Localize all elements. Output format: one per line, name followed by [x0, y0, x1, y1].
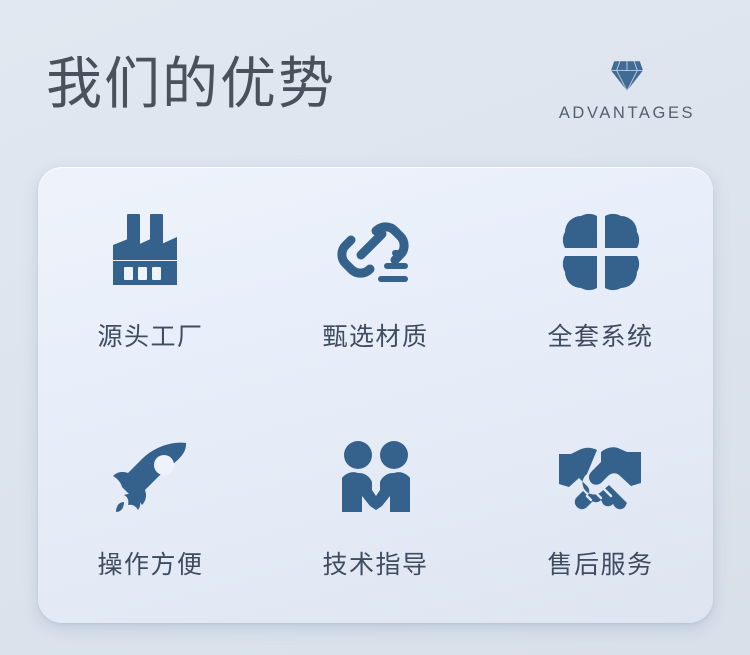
diamond-icon	[610, 60, 644, 92]
feature-item-technical-guidance[interactable]: 技术指导	[263, 395, 488, 623]
feature-label: 源头工厂	[97, 317, 203, 353]
feature-item-after-sales-service[interactable]: 售后服务	[488, 395, 713, 623]
four-petal-icon	[558, 209, 644, 295]
feature-label: 技术指导	[322, 545, 428, 581]
features-grid: 源头工厂	[38, 167, 713, 623]
feature-label: 甄选材质	[322, 317, 428, 353]
rocket-icon	[108, 437, 194, 523]
feature-label: 操作方便	[97, 545, 203, 581]
feature-label: 全套系统	[547, 317, 653, 353]
chain-link-icon	[333, 209, 419, 295]
features-card: 源头工厂	[38, 167, 713, 623]
feature-item-full-system[interactable]: 全套系统	[488, 167, 713, 395]
feature-label: 售后服务	[547, 545, 653, 581]
factory-icon	[108, 209, 194, 295]
page-header: 我们的优势 ADVANTAGES	[0, 0, 750, 160]
feature-item-easy-operation[interactable]: 操作方便	[38, 395, 263, 623]
feature-item-selected-material[interactable]: 甄选材质	[263, 167, 488, 395]
advantages-page: 我们的优势 ADVANTAGES	[0, 0, 750, 655]
two-people-icon	[333, 437, 419, 523]
handshake-icon	[558, 437, 644, 523]
advantages-label: ADVANTAGES	[542, 104, 712, 123]
feature-item-source-factory[interactable]: 源头工厂	[38, 167, 263, 395]
advantages-eyebrow: ADVANTAGES	[542, 60, 712, 123]
page-title: 我们的优势	[46, 52, 336, 116]
